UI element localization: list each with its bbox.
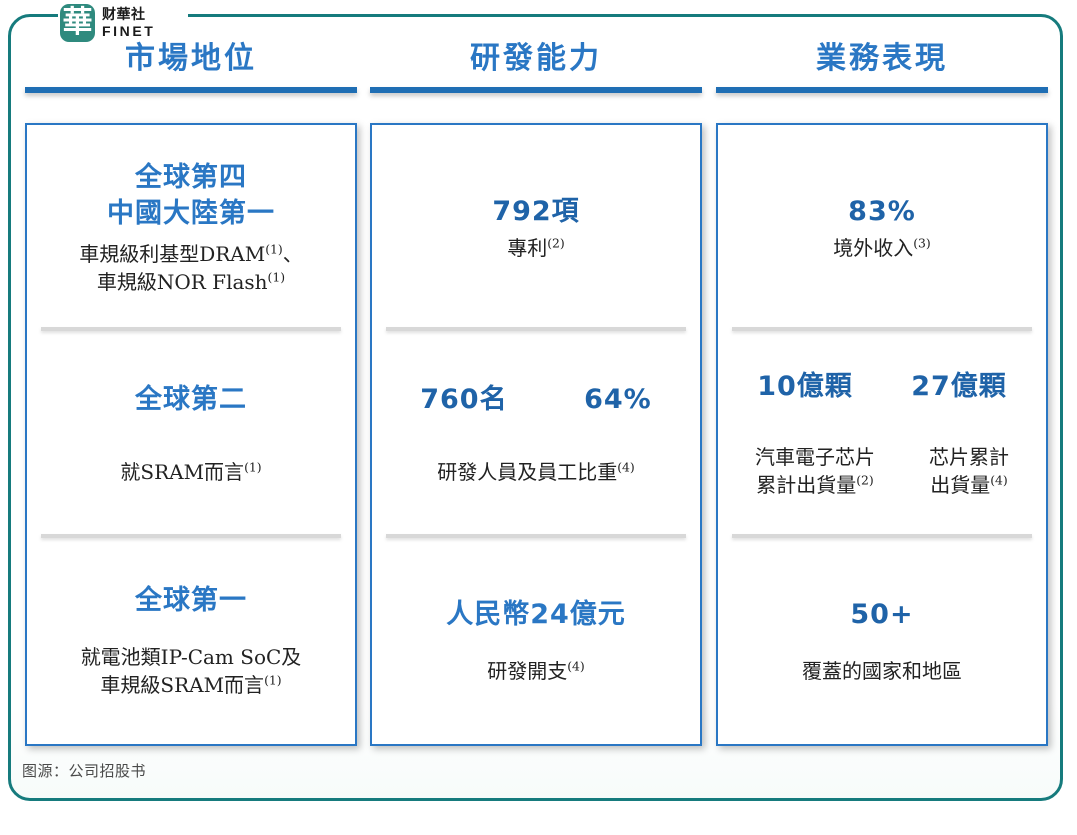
logo-hua-glyph: 華 [60, 8, 95, 38]
stat-cell: 760名 64% 研發人員及員工比重(4) [372, 331, 700, 537]
caption-text: 就SRAM而言 [120, 460, 244, 484]
stat-headline-secondary: 中國大陸第一 [107, 196, 275, 232]
logo-mark-icon: 華 [60, 4, 95, 42]
stat-caption-b: 芯片累計 出貨量(4) [929, 443, 1009, 499]
logo-name-en: FINET [102, 24, 155, 38]
stat-headline: 83% [848, 194, 916, 230]
footnote-ref: (1) [264, 672, 282, 687]
stat-cell: 50+ 覆蓋的國家和地區 [718, 538, 1046, 744]
stat-cell: 全球第一 就電池類IP-Cam SoC及 車規級SRAM而言(1) [27, 538, 355, 744]
stat-cell: 全球第四 中國大陸第一 車規級利基型DRAM(1)、 車規級NOR Flash(… [27, 125, 355, 331]
column-underline-bar [370, 87, 702, 93]
caption-text: 研發開支 [487, 659, 567, 683]
caption-text: 專利 [507, 236, 547, 260]
column-underline-bar [716, 87, 1048, 93]
stat-headline-pair: 760名 64% [382, 382, 690, 418]
source-note: 图源：公司招股书 [22, 760, 146, 781]
caption-text: 境外收入 [833, 236, 913, 260]
stat-caption: 專利(2) [507, 234, 565, 262]
stat-caption: 車規級利基型DRAM(1)、 車規級NOR Flash(1) [79, 240, 303, 296]
stat-headline: 50+ [850, 597, 913, 633]
stat-headline-a: 10億顆 [757, 369, 853, 405]
column-title: 市場地位 [25, 40, 357, 78]
stat-headline: 人民幣24億元 [446, 597, 626, 633]
caption-text: 車規級利基型DRAM [79, 242, 265, 266]
caption-text: 車規級NOR Flash [97, 270, 268, 294]
stat-caption: 就SRAM而言(1) [120, 458, 261, 486]
card-business-performance: 83% 境外收入(3) 10億顆 27億顆 汽車電子芯片 累計出貨量(2) 芯片… [716, 123, 1048, 746]
footnote-ref: (2) [547, 236, 565, 251]
footnote-ref: (1) [265, 242, 283, 257]
logo-name-cn: 财華社 [102, 8, 155, 22]
stat-headline-b: 64% [584, 382, 652, 418]
column-title: 業務表現 [716, 40, 1048, 78]
footnote-ref: (4) [617, 460, 635, 475]
stat-headline-pair: 10億顆 27億顆 [728, 369, 1036, 405]
logo-wordmark: 财華社 FINET [102, 8, 155, 38]
column-underline-bar [25, 87, 357, 93]
stat-cell: 全球第二 就SRAM而言(1) [27, 331, 355, 537]
column-header-rd-capability: 研發能力 [370, 40, 702, 102]
stat-caption-pair: 汽車電子芯片 累計出貨量(2) 芯片累計 出貨量(4) [728, 443, 1036, 499]
stat-headline-a: 760名 [420, 382, 507, 418]
caption-text: 車規級SRAM而言 [100, 673, 264, 697]
stat-caption-a: 汽車電子芯片 累計出貨量(2) [755, 443, 875, 499]
finet-logo: 華 财華社 FINET [60, 2, 188, 44]
footnote-ref: (1) [268, 270, 286, 285]
column-header-market-position: 市場地位 [25, 40, 357, 102]
stat-caption: 就電池類IP-Cam SoC及 車規級SRAM而言(1) [81, 643, 302, 699]
stat-caption: 境外收入(3) [833, 234, 931, 262]
footnote-ref: (1) [244, 460, 262, 475]
caption-text: 累計出貨量 [756, 473, 856, 497]
stat-cell: 人民幣24億元 研發開支(4) [372, 538, 700, 744]
stat-headline: 792項 [492, 194, 579, 230]
stat-headline-b: 27億顆 [911, 369, 1007, 405]
card-rd-capability: 792項 專利(2) 760名 64% 研發人員及員工比重(4) 人民幣24億元… [370, 123, 702, 746]
caption-text: 研發人員及員工比重 [437, 460, 617, 484]
stat-caption: 研發人員及員工比重(4) [437, 458, 635, 486]
caption-separator: 、 [283, 242, 303, 266]
stat-cell: 10億顆 27億顆 汽車電子芯片 累計出貨量(2) 芯片累計 出貨量(4) [718, 331, 1046, 537]
card-market-position: 全球第四 中國大陸第一 車規級利基型DRAM(1)、 車規級NOR Flash(… [25, 123, 357, 746]
stat-headline: 全球第一 [135, 583, 247, 619]
footnote-ref: (3) [913, 236, 931, 251]
caption-text: 出貨量 [930, 473, 990, 497]
stat-caption: 覆蓋的國家和地區 [802, 657, 962, 685]
footnote-ref: (2) [856, 473, 874, 488]
footnote-ref: (4) [567, 658, 585, 673]
caption-text: 芯片累計 [929, 445, 1009, 469]
footnote-ref: (4) [990, 473, 1008, 488]
caption-text: 汽車電子芯片 [755, 445, 875, 469]
stat-cell: 83% 境外收入(3) [718, 125, 1046, 331]
stat-headline: 全球第二 [135, 382, 247, 418]
column-title: 研發能力 [370, 40, 702, 78]
caption-text: 就電池類IP-Cam SoC及 [81, 645, 302, 669]
stat-headline: 全球第四 [135, 160, 247, 196]
stat-cell: 792項 專利(2) [372, 125, 700, 331]
stat-caption: 研發開支(4) [487, 657, 585, 685]
column-header-business-performance: 業務表現 [716, 40, 1048, 102]
